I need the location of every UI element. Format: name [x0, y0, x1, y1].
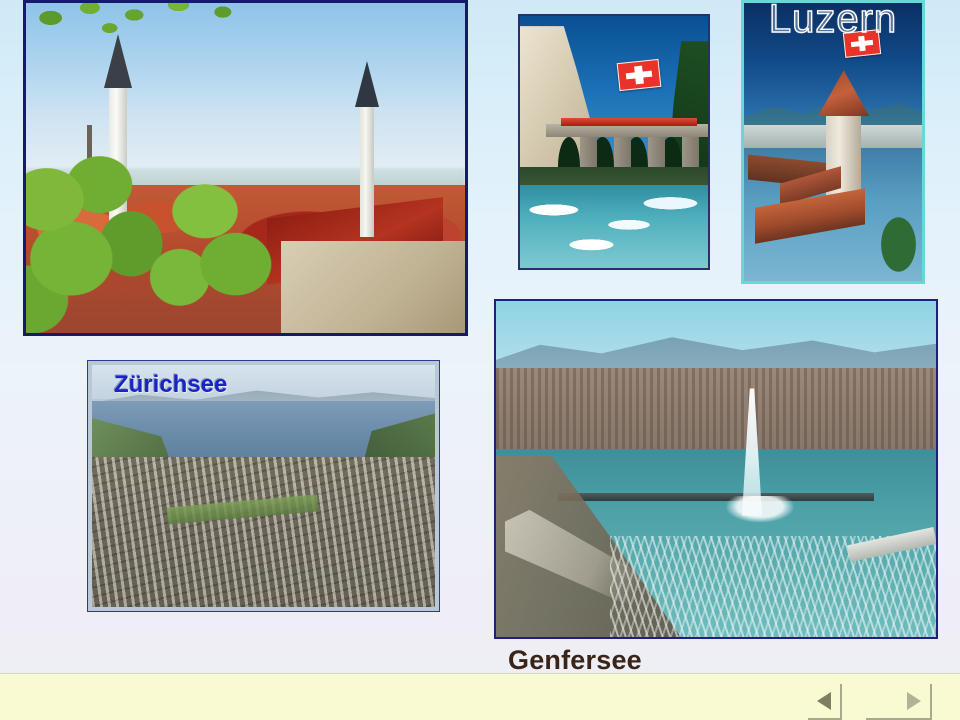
- swiss-flag-icon: [616, 59, 661, 91]
- old-town-rooftops-photo[interactable]: [23, 0, 468, 336]
- zurichsee-photo-content: [92, 365, 435, 607]
- overhanging-branches: [26, 3, 272, 69]
- viaduct-deck: [546, 124, 708, 137]
- triangle-right-icon: [907, 692, 921, 710]
- fountain-spray: [725, 496, 795, 523]
- rapids-river: [520, 185, 708, 268]
- luzern-photo[interactable]: Luzern: [741, 0, 925, 284]
- house-facade: [281, 241, 465, 333]
- city-skyline: [496, 368, 936, 455]
- viaduct-photo-content: [520, 16, 708, 268]
- shrub: [879, 214, 918, 275]
- red-train: [561, 118, 696, 126]
- genfersee-photo[interactable]: [494, 299, 938, 639]
- genfersee-photo-content: [496, 301, 936, 637]
- previous-slide-button[interactable]: [808, 684, 842, 720]
- slideshow-bottom-bar: [0, 673, 960, 720]
- old-town-photo-content: [26, 3, 465, 333]
- luzern-photo-content: [744, 3, 922, 281]
- zurichsee-photo[interactable]: Zürichsee: [87, 360, 440, 612]
- foreground-tree-middle: [149, 175, 289, 333]
- next-slide-button[interactable]: [898, 684, 932, 720]
- triangle-left-icon: [817, 692, 831, 710]
- church-spire-right: [360, 105, 374, 237]
- presentation-slide: Luzern Genfersee Zürichsee: [0, 0, 960, 720]
- swiss-flag-icon: [842, 29, 880, 58]
- slide-menu-button[interactable]: [866, 684, 900, 720]
- breakwater-jetty: [558, 493, 875, 501]
- genfersee-caption: Genfersee: [508, 645, 642, 676]
- city-buildings: [92, 457, 435, 607]
- viaduct-river-photo[interactable]: [518, 14, 710, 270]
